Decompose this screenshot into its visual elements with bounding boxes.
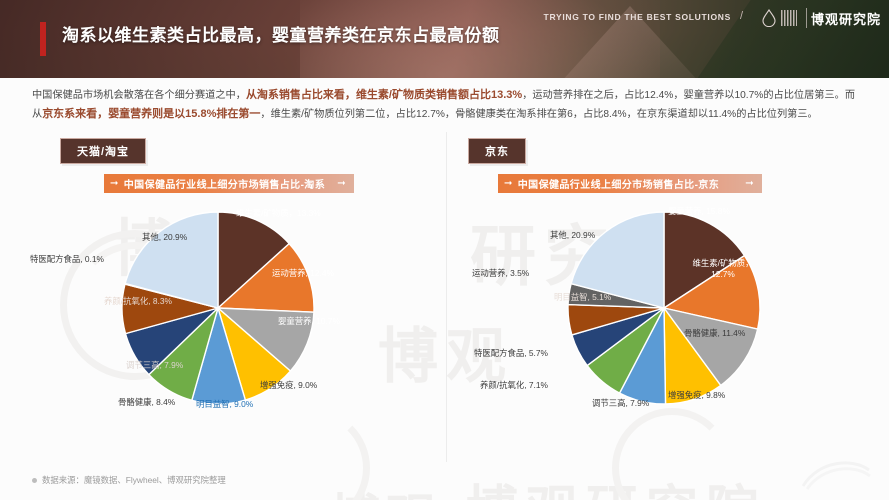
- paragraph-highlight: 从淘系销售占比来看，: [246, 89, 356, 101]
- decorative-swirl-icon: [801, 456, 871, 490]
- paragraph-highlight: 婴童营养则是以15.8%排在第一: [108, 108, 260, 120]
- page-title: 淘系以维生素类占比最高，婴童营养类在京东占最高份额: [62, 21, 500, 46]
- pie-slice-label: 骨骼健康, 11.4%: [684, 328, 745, 339]
- pie-slice-label: 婴童营养, 15.8%: [668, 206, 730, 217]
- pie-slice-label: 增强免疫, 9.8%: [668, 390, 725, 401]
- pie-slice-label: 养颜/抗氧化, 7.1%: [480, 380, 548, 391]
- pie-slice-label: 明目益智, 5.1%: [554, 292, 611, 303]
- pie-slice-label: 养颜/抗氧化, 8.3%: [104, 296, 172, 307]
- paragraph-segment: ，运动营养排在之后，占比12.4%，婴童营养以10.7%的占比位居第三。: [522, 90, 845, 101]
- pie-slice-label: 特医配方食品, 0.1%: [30, 254, 104, 265]
- pie-slice-label: 明目益智, 9.0%: [196, 399, 253, 410]
- pie-slice-label: 调节三高, 7.9%: [592, 398, 649, 409]
- header-vertical-divider: [806, 8, 807, 28]
- pie-slice-label: 维生素/矿物质，13.3%: [236, 208, 321, 219]
- header-separator: /: [740, 10, 743, 22]
- arrow-right-icon: ➞: [504, 179, 513, 189]
- pie-slice-label: 特医配方食品, 5.7%: [474, 348, 548, 359]
- paragraph-segment: 中国保健品市场机会散落在各个细分赛道之中，: [32, 90, 246, 101]
- arrow-right-icon: ➞: [110, 179, 119, 189]
- header-tagline: TRYING TO FIND THE BEST SOLUTIONS: [544, 12, 731, 22]
- brand-seal-icon: [781, 10, 797, 26]
- pie-slice-label: 增强免疫, 9.0%: [260, 380, 317, 391]
- data-source-text: 数据来源：魔镜数据、Flywheel、博观研究院整理: [42, 474, 226, 486]
- title-accent-bar: [40, 22, 46, 56]
- slide-body: 博观 博观 博观 博观研究院 研究院 中国保健品市场机会散落在各个细分赛道之中，…: [0, 78, 889, 500]
- pie-slice-label: 调节三高, 7.9%: [126, 360, 183, 371]
- arrow-right-icon: ➞: [337, 179, 346, 189]
- slide-root: 淘系以维生素类占比最高，婴童营养类在京东占最高份额 TRYING TO FIND…: [0, 0, 889, 500]
- bullet-icon: [32, 478, 37, 483]
- chart-title-ribbon-taobao: ➞ 中国保健品行业线上细分市场销售占比-淘系 ➞: [104, 174, 354, 193]
- chart-title-left: 中国保健品行业线上细分市场销售占比-淘系: [124, 176, 325, 191]
- data-source-note: 数据来源：魔镜数据、Flywheel、博观研究院整理: [32, 474, 226, 486]
- pie-chart-taobao: 维生素/矿物质，13.3%运动营养, 12.4%婴童营养, 10.7%增强免疫,…: [6, 200, 436, 500]
- chart-title-ribbon-jd: ➞ 中国保健品行业线上细分市场销售占比-京东 ➞: [498, 174, 762, 193]
- pie-slice-label: 维生素/矿物质，12.7%: [688, 258, 758, 280]
- paragraph-highlight: 维生素/矿物质类销售额占比13.3%: [356, 89, 522, 101]
- pie-slice-label: 婴童营养, 10.7%: [278, 316, 340, 327]
- pie-slice-label: 运动营养, 12.4%: [272, 268, 334, 279]
- platform-tag-jd[interactable]: 京东: [468, 138, 526, 164]
- summary-paragraph: 中国保健品市场机会散落在各个细分赛道之中，从淘系销售占比来看，维生素/矿物质类销…: [32, 86, 864, 124]
- paragraph-segment: ，维生素/矿物质位列第二位，占比12.7%，骨骼健康类在淘系排在第6，占比8.4…: [260, 109, 817, 120]
- pie-slice-label: 运动营养, 3.5%: [472, 268, 529, 279]
- pie-slice-label: 骨骼健康, 8.4%: [118, 397, 175, 408]
- chart-title-right: 中国保健品行业线上细分市场销售占比-京东: [518, 176, 719, 191]
- chart-divider: [446, 132, 447, 462]
- slide-header: 淘系以维生素类占比最高，婴童营养类在京东占最高份额 TRYING TO FIND…: [0, 0, 889, 78]
- pie-chart-jd: 婴童营养, 15.8%维生素/矿物质，12.7%骨骼健康, 11.4%增强免疫,…: [452, 200, 882, 500]
- brand-name: 博观研究院: [811, 9, 881, 28]
- arrow-right-icon: ➞: [745, 179, 754, 189]
- platform-tag-tmall-taobao[interactable]: 天猫/淘宝: [60, 138, 146, 164]
- paragraph-highlight: 京东系来看，: [42, 108, 108, 120]
- water-drop-logo-icon: [761, 9, 777, 27]
- pie-slice-label: 其他, 20.9%: [550, 230, 595, 241]
- pie-slice-label: 其他, 20.9%: [142, 232, 187, 243]
